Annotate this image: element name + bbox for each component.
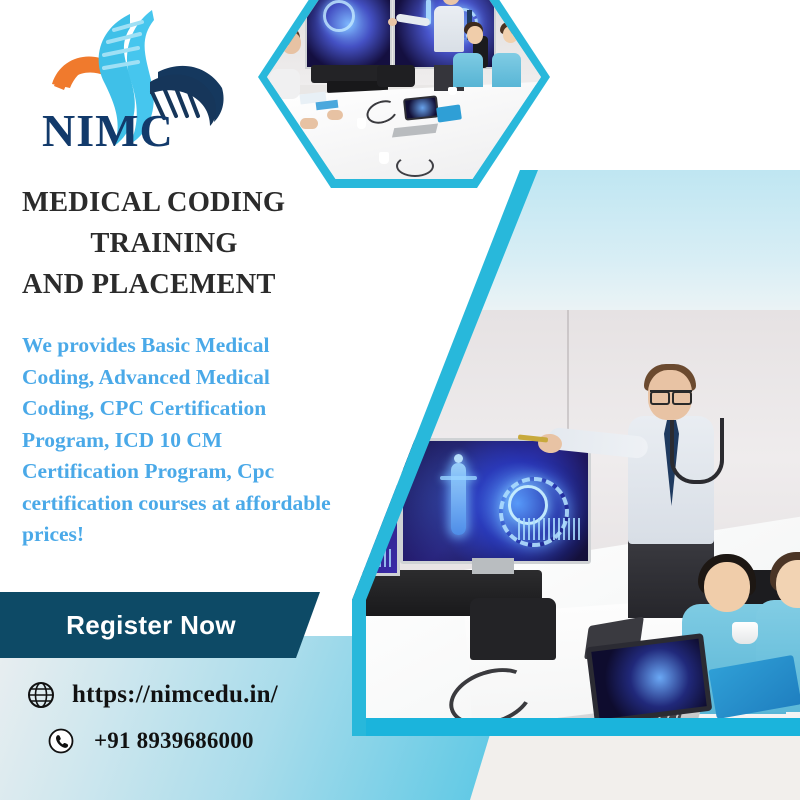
headline-line-2: TRAINING <box>0 223 352 264</box>
phone-number: +91 8939686000 <box>94 728 254 754</box>
register-now-button[interactable]: Register Now <box>0 592 320 658</box>
register-now-label: Register Now <box>0 610 320 641</box>
logo-wordmark: NIMC <box>42 104 174 157</box>
main-photo <box>352 170 800 736</box>
headline-line-1: MEDICAL CODING <box>0 182 352 223</box>
globe-icon <box>26 680 56 710</box>
description-text: We provides Basic Medical Coding, Advanc… <box>22 330 340 551</box>
website-url: https://nimcedu.in/ <box>72 681 278 709</box>
phone-icon <box>48 728 74 754</box>
promotional-poster: NIMC MEDICAL CODING TRAINING AND PLACEME… <box>0 0 800 800</box>
presentation-screen <box>400 438 591 564</box>
page-title: MEDICAL CODING TRAINING AND PLACEMENT <box>0 182 352 305</box>
phone-row[interactable]: +91 8939686000 <box>26 728 278 754</box>
hexagon-photo <box>258 0 550 188</box>
nimc-logo: NIMC <box>30 6 260 156</box>
contact-info: https://nimcedu.in/ +91 8939686000 <box>26 680 278 772</box>
headline-line-3: AND PLACEMENT <box>0 264 352 305</box>
website-row[interactable]: https://nimcedu.in/ <box>26 680 278 710</box>
